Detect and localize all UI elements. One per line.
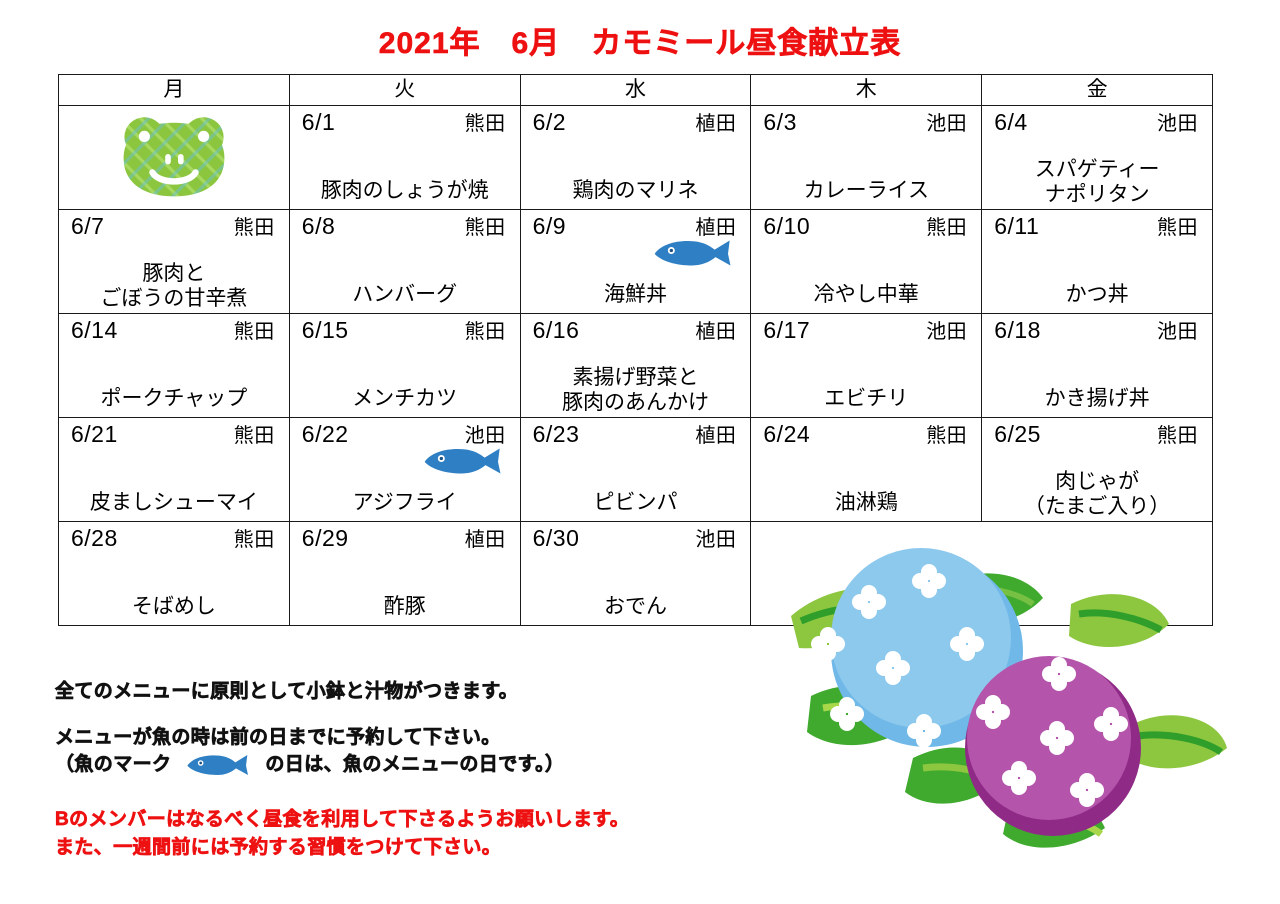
day-cell-content: 6/16植田素揚げ野菜と 豚肉のあんかけ bbox=[521, 314, 751, 417]
menu-date: 6/15 bbox=[300, 316, 349, 345]
footer-notes: 全てのメニューに原則として小鉢と汁物がつきます。 メニューが魚の時は前の日までに… bbox=[55, 678, 755, 797]
day-cell-content: 6/14熊田ポークチャップ bbox=[59, 314, 289, 417]
calendar-day-cell[interactable]: 6/21熊田皮ましシューマイ bbox=[59, 418, 290, 522]
calendar-row: 6/21熊田皮ましシューマイ6/22池田アジフライ6/23植田ピビンパ6/24熊… bbox=[59, 418, 1213, 522]
menu-staff: 熊田 bbox=[234, 320, 279, 345]
calendar-row: 6/14熊田ポークチャップ6/15熊田メンチカツ6/16植田素揚げ野菜と 豚肉の… bbox=[59, 314, 1213, 418]
day-cell-content: 6/7熊田豚肉と ごぼうの甘辛煮 bbox=[59, 210, 289, 313]
menu-date: 6/28 bbox=[69, 524, 118, 553]
menu-name: ピビンパ bbox=[521, 490, 751, 515]
day-cell-content: 6/25熊田肉じゃが （たまご入り） bbox=[982, 418, 1212, 521]
menu-date: 6/16 bbox=[531, 316, 580, 345]
menu-date: 6/4 bbox=[992, 108, 1027, 137]
menu-name: 豚肉と ごぼうの甘辛煮 bbox=[59, 261, 289, 311]
menu-staff: 池田 bbox=[926, 320, 971, 345]
day-cell-header: 6/28熊田 bbox=[69, 524, 279, 553]
day-cell-header: 6/2植田 bbox=[531, 108, 741, 137]
calendar-row: 6/7熊田豚肉と ごぼうの甘辛煮6/8熊田ハンバーグ6/9植田海鮮丼6/10熊田… bbox=[59, 210, 1213, 314]
calendar-day-cell[interactable]: 6/18池田かき揚げ丼 bbox=[982, 314, 1213, 418]
day-cell-content: 6/10熊田冷やし中華 bbox=[751, 210, 981, 313]
menu-staff: 植田 bbox=[695, 424, 740, 449]
menu-name: ハンバーグ bbox=[290, 282, 520, 307]
menu-date: 6/30 bbox=[531, 524, 580, 553]
menu-name: エビチリ bbox=[751, 386, 981, 411]
fish-icon bbox=[179, 753, 257, 777]
weekday-header-fri: 金 bbox=[982, 75, 1213, 106]
menu-name: かつ丼 bbox=[982, 282, 1212, 307]
frog-illustration bbox=[59, 110, 289, 206]
menu-date: 6/18 bbox=[992, 316, 1041, 345]
menu-staff: 熊田 bbox=[465, 112, 510, 137]
calendar-day-cell[interactable]: 6/25熊田肉じゃが （たまご入り） bbox=[982, 418, 1213, 522]
calendar-day-cell[interactable]: 6/24熊田油淋鶏 bbox=[751, 418, 982, 522]
calendar-day-cell[interactable]: 6/11熊田かつ丼 bbox=[982, 210, 1213, 314]
menu-staff: 熊田 bbox=[926, 424, 971, 449]
note-fish-mark-before: （魚のマーク bbox=[55, 751, 171, 779]
menu-name: 豚肉のしょうが焼 bbox=[290, 178, 520, 203]
menu-staff: 池田 bbox=[695, 528, 740, 553]
menu-date: 6/24 bbox=[761, 420, 810, 449]
page-title: 2021年 6月 カモミール昼食献立表 bbox=[0, 18, 1280, 62]
day-cell-content: 6/22池田アジフライ bbox=[290, 418, 520, 521]
weekday-header-mon: 月 bbox=[59, 75, 290, 106]
day-cell-header: 6/25熊田 bbox=[992, 420, 1202, 449]
day-cell-content: 6/23植田ピビンパ bbox=[521, 418, 751, 521]
calendar-day-cell[interactable]: 6/8熊田ハンバーグ bbox=[289, 210, 520, 314]
day-cell-header: 6/21熊田 bbox=[69, 420, 279, 449]
calendar-day-cell[interactable]: 6/9植田海鮮丼 bbox=[520, 210, 751, 314]
menu-name: 素揚げ野菜と 豚肉のあんかけ bbox=[521, 365, 751, 415]
calendar-header-row: 月 火 水 木 金 bbox=[59, 75, 1213, 106]
weekday-header-thu: 木 bbox=[751, 75, 982, 106]
day-cell-header: 6/16植田 bbox=[531, 316, 741, 345]
calendar-table: 月 火 水 木 金 6/1熊田豚肉のしょうが焼6/2植田鶏肉のマリネ6/3池田カ… bbox=[58, 74, 1213, 626]
menu-date: 6/8 bbox=[300, 212, 335, 241]
day-cell-header: 6/3池田 bbox=[761, 108, 971, 137]
calendar-day-cell[interactable]: 6/2植田鶏肉のマリネ bbox=[520, 106, 751, 210]
day-cell-header: 6/29植田 bbox=[300, 524, 510, 553]
calendar-row: 6/28熊田そばめし6/29植田酢豚6/30池田おでん bbox=[59, 522, 1213, 626]
calendar-row: 6/1熊田豚肉のしょうが焼6/2植田鶏肉のマリネ6/3池田カレーライス6/4池田… bbox=[59, 106, 1213, 210]
menu-staff: 熊田 bbox=[465, 320, 510, 345]
menu-name: おでん bbox=[521, 594, 751, 619]
menu-name: ポークチャップ bbox=[59, 386, 289, 411]
menu-date: 6/9 bbox=[531, 212, 566, 241]
note-member-b-request: Bのメンバーはなるべく昼食を利用して下さるようお願いします。 bbox=[55, 806, 815, 834]
day-cell-header: 6/18池田 bbox=[992, 316, 1202, 345]
day-cell-content: 6/8熊田ハンバーグ bbox=[290, 210, 520, 313]
calendar-day-cell[interactable]: 6/23植田ピビンパ bbox=[520, 418, 751, 522]
menu-date: 6/14 bbox=[69, 316, 118, 345]
calendar-day-cell[interactable]: 6/7熊田豚肉と ごぼうの甘辛煮 bbox=[59, 210, 290, 314]
menu-staff: 池田 bbox=[1157, 112, 1202, 137]
calendar-day-cell[interactable]: 6/17池田エビチリ bbox=[751, 314, 982, 418]
menu-staff: 池田 bbox=[926, 112, 971, 137]
day-cell-content: 6/11熊田かつ丼 bbox=[982, 210, 1212, 313]
day-cell-header: 6/1熊田 bbox=[300, 108, 510, 137]
menu-date: 6/17 bbox=[761, 316, 810, 345]
menu-staff: 熊田 bbox=[234, 424, 279, 449]
menu-staff: 熊田 bbox=[1157, 424, 1202, 449]
day-cell-header: 6/24熊田 bbox=[761, 420, 971, 449]
menu-staff: 熊田 bbox=[234, 528, 279, 553]
menu-date: 6/2 bbox=[531, 108, 566, 137]
footer-notes-red: Bのメンバーはなるべく昼食を利用して下さるようお願いします。 また、一週間前には… bbox=[55, 806, 815, 861]
hydrangea-illustration bbox=[771, 526, 1231, 846]
menu-name: 酢豚 bbox=[290, 594, 520, 619]
calendar-day-cell[interactable]: 6/14熊田ポークチャップ bbox=[59, 314, 290, 418]
day-cell-header: 6/4池田 bbox=[992, 108, 1202, 137]
menu-staff: 植田 bbox=[465, 528, 510, 553]
menu-name: スパゲティー ナポリタン bbox=[982, 157, 1212, 207]
menu-date: 6/25 bbox=[992, 420, 1041, 449]
calendar-day-cell[interactable]: 6/15熊田メンチカツ bbox=[289, 314, 520, 418]
day-cell-content: 6/21熊田皮ましシューマイ bbox=[59, 418, 289, 521]
day-cell-content: 6/3池田カレーライス bbox=[751, 106, 981, 209]
frog-icon bbox=[110, 110, 238, 206]
calendar-illustration-cell bbox=[59, 106, 290, 210]
calendar-day-cell[interactable]: 6/4池田スパゲティー ナポリタン bbox=[982, 106, 1213, 210]
menu-staff: 植田 bbox=[695, 112, 740, 137]
weekday-header-tue: 火 bbox=[289, 75, 520, 106]
menu-name: 鶏肉のマリネ bbox=[521, 178, 751, 203]
day-cell-header: 6/23植田 bbox=[531, 420, 741, 449]
menu-date: 6/3 bbox=[761, 108, 796, 137]
note-fish-mark-line: （魚のマーク の日は、魚のメニューの日です。） bbox=[55, 751, 755, 779]
note-fish-mark-after: の日は、魚のメニューの日です。） bbox=[265, 751, 564, 779]
calendar-day-cell[interactable]: 6/16植田素揚げ野菜と 豚肉のあんかけ bbox=[520, 314, 751, 418]
menu-staff: 熊田 bbox=[465, 216, 510, 241]
menu-name: 冷やし中華 bbox=[751, 282, 981, 307]
menu-date: 6/1 bbox=[300, 108, 335, 137]
calendar-day-cell[interactable]: 6/28熊田そばめし bbox=[59, 522, 290, 626]
calendar-illustration-cell bbox=[751, 522, 1213, 626]
fish-icon bbox=[650, 238, 736, 268]
day-cell-content: 6/15熊田メンチカツ bbox=[290, 314, 520, 417]
day-cell-header: 6/17池田 bbox=[761, 316, 971, 345]
day-cell-header: 6/11熊田 bbox=[992, 212, 1202, 241]
menu-name: 皮ましシューマイ bbox=[59, 490, 289, 515]
weekday-header-wed: 水 bbox=[520, 75, 751, 106]
menu-date: 6/21 bbox=[69, 420, 118, 449]
fish-icon bbox=[420, 446, 506, 476]
calendar-day-cell[interactable]: 6/10熊田冷やし中華 bbox=[751, 210, 982, 314]
day-cell-content: 6/18池田かき揚げ丼 bbox=[982, 314, 1212, 417]
day-cell-header: 6/15熊田 bbox=[300, 316, 510, 345]
day-cell-header: 6/14熊田 bbox=[69, 316, 279, 345]
menu-calendar: 月 火 水 木 金 6/1熊田豚肉のしょうが焼6/2植田鶏肉のマリネ6/3池田カ… bbox=[58, 74, 1212, 626]
menu-date: 6/10 bbox=[761, 212, 810, 241]
note-fish-reservation: メニューが魚の時は前の日までに予約して下さい。 bbox=[55, 724, 755, 752]
calendar-day-cell[interactable]: 6/3池田カレーライス bbox=[751, 106, 982, 210]
day-cell-header: 6/22池田 bbox=[300, 420, 510, 449]
calendar-day-cell[interactable]: 6/1熊田豚肉のしょうが焼 bbox=[289, 106, 520, 210]
day-cell-header: 6/7熊田 bbox=[69, 212, 279, 241]
menu-name: 肉じゃが （たまご入り） bbox=[982, 469, 1212, 519]
calendar-day-cell[interactable]: 6/29植田酢豚 bbox=[289, 522, 520, 626]
calendar-day-cell[interactable]: 6/22池田アジフライ bbox=[289, 418, 520, 522]
menu-staff: 熊田 bbox=[234, 216, 279, 241]
menu-name: そばめし bbox=[59, 594, 289, 619]
menu-name: かき揚げ丼 bbox=[982, 386, 1212, 411]
note-side-dishes: 全てのメニューに原則として小鉢と汁物がつきます。 bbox=[55, 678, 755, 706]
day-cell-content: 6/9植田海鮮丼 bbox=[521, 210, 751, 313]
menu-name: 油淋鶏 bbox=[751, 490, 981, 515]
menu-name: メンチカツ bbox=[290, 386, 520, 411]
menu-date: 6/29 bbox=[300, 524, 349, 553]
day-cell-content: 6/4池田スパゲティー ナポリタン bbox=[982, 106, 1212, 209]
menu-staff: 植田 bbox=[695, 320, 740, 345]
menu-staff: 熊田 bbox=[926, 216, 971, 241]
day-cell-header: 6/8熊田 bbox=[300, 212, 510, 241]
day-cell-content: 6/29植田酢豚 bbox=[290, 522, 520, 625]
menu-name: 海鮮丼 bbox=[521, 282, 751, 307]
day-cell-content: 6/30池田おでん bbox=[521, 522, 751, 625]
menu-date: 6/22 bbox=[300, 420, 349, 449]
day-cell-content: 6/24熊田油淋鶏 bbox=[751, 418, 981, 521]
menu-date: 6/7 bbox=[69, 212, 104, 241]
menu-staff: 池田 bbox=[1157, 320, 1202, 345]
menu-name: アジフライ bbox=[290, 490, 520, 515]
hydrangea-icon bbox=[771, 526, 1231, 856]
day-cell-header: 6/30池田 bbox=[531, 524, 741, 553]
calendar-day-cell[interactable]: 6/30池田おでん bbox=[520, 522, 751, 626]
calendar-body: 6/1熊田豚肉のしょうが焼6/2植田鶏肉のマリネ6/3池田カレーライス6/4池田… bbox=[59, 106, 1213, 626]
menu-date: 6/11 bbox=[992, 212, 1039, 241]
day-cell-content: 6/17池田エビチリ bbox=[751, 314, 981, 417]
menu-name: カレーライス bbox=[751, 178, 981, 203]
day-cell-content: 6/2植田鶏肉のマリネ bbox=[521, 106, 751, 209]
day-cell-content: 6/1熊田豚肉のしょうが焼 bbox=[290, 106, 520, 209]
day-cell-header: 6/9植田 bbox=[531, 212, 741, 241]
note-week-ahead-reservation: また、一週間前には予約する習慣をつけて下さい。 bbox=[55, 834, 815, 862]
menu-staff: 熊田 bbox=[1157, 216, 1202, 241]
menu-date: 6/23 bbox=[531, 420, 580, 449]
day-cell-content: 6/28熊田そばめし bbox=[59, 522, 289, 625]
day-cell-header: 6/10熊田 bbox=[761, 212, 971, 241]
